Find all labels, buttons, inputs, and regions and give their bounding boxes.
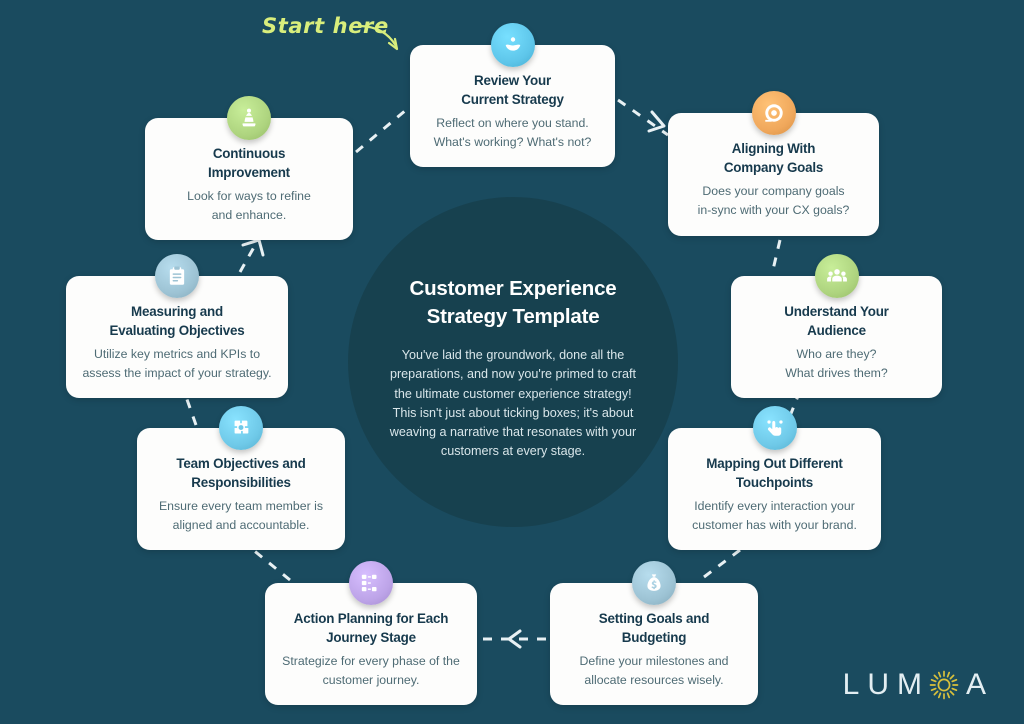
- step-title-line1: Continuous: [159, 144, 339, 163]
- step-title-line1: Team Objectives and: [151, 454, 331, 473]
- step-desc-line2: What's working? What's not?: [424, 133, 601, 152]
- center-title: Customer Experience Strategy Template: [383, 275, 643, 330]
- step-title: Understand YourAudience: [745, 302, 928, 341]
- step-desc-line2: and enhance.: [159, 206, 339, 225]
- connector-measuring-to-ci: [240, 240, 258, 272]
- step-title: Mapping Out DifferentTouchpoints: [682, 454, 867, 493]
- step-title-line2: Current Strategy: [424, 90, 601, 109]
- step-description: Reflect on where you stand.What's workin…: [424, 114, 601, 151]
- step-title: Aligning WithCompany Goals: [682, 139, 865, 178]
- step-title-line2: Audience: [745, 321, 928, 340]
- step-desc-line1: Identify every interaction your: [682, 497, 867, 516]
- connector-aligning-to-understand: [772, 240, 780, 274]
- people-group-icon: [815, 254, 859, 298]
- step-desc-line2: in-sync with your CX goals?: [682, 201, 865, 220]
- step-title-line1: Measuring and: [80, 302, 274, 321]
- step-description: Who are they?What drives them?: [745, 345, 928, 382]
- arrowhead-to-aligning: [649, 112, 664, 131]
- clipboard-checklist-icon: [155, 254, 199, 298]
- connector-mapping-to-setting: [700, 550, 740, 580]
- workflow-nodes-icon: [349, 561, 393, 605]
- arrowhead-to-continuous: [243, 240, 263, 255]
- step-title-line2: Budgeting: [564, 628, 744, 647]
- step-title-line1: Action Planning for Each: [279, 609, 463, 628]
- center-circle: Customer Experience Strategy Template Yo…: [348, 197, 678, 527]
- step-desc-line1: Does your company goals: [682, 182, 865, 201]
- step-desc-line1: Strategize for every phase of the: [279, 652, 463, 671]
- step-description: Strategize for every phase of thecustome…: [279, 652, 463, 689]
- step-description: Utilize key metrics and KPIs toassess th…: [80, 345, 274, 382]
- step-description: Does your company goalsin-sync with your…: [682, 182, 865, 219]
- step-title: Team Objectives andResponsibilities: [151, 454, 331, 493]
- step-title-line2: Company Goals: [682, 158, 865, 177]
- step-title: Review YourCurrent Strategy: [424, 71, 601, 110]
- step-description: Look for ways to refineand enhance.: [159, 187, 339, 224]
- logo-text-lum: LUM: [843, 668, 930, 702]
- lotus-meditation-icon: [491, 23, 535, 67]
- step-title: Action Planning for EachJourney Stage: [279, 609, 463, 648]
- step-description: Ensure every team member isaligned and a…: [151, 497, 331, 534]
- center-title-line1: Customer Experience: [383, 275, 643, 303]
- touch-tap-icon: [753, 406, 797, 450]
- step-title-line1: Mapping Out Different: [682, 454, 867, 473]
- step-title: Measuring andEvaluating Objectives: [80, 302, 274, 341]
- sun-burst-icon: [929, 670, 959, 700]
- step-title-line1: Review Your: [424, 71, 601, 90]
- money-bag-icon: [632, 561, 676, 605]
- logo-text-a: A: [966, 668, 994, 702]
- connector-action-to-team: [252, 549, 290, 580]
- step-description: Identify every interaction yourcustomer …: [682, 497, 867, 534]
- puzzle-share-icon: [219, 406, 263, 450]
- step-desc-line2: aligned and accountable.: [151, 516, 331, 535]
- target-dartboard-icon: [752, 91, 796, 135]
- arrowhead-to-action: [509, 631, 520, 647]
- step-desc-line1: Utilize key metrics and KPIs to: [80, 345, 274, 364]
- infographic-canvas: Customer Experience Strategy Template Yo…: [0, 0, 1024, 724]
- step-title: ContinuousImprovement: [159, 144, 339, 183]
- step-description: Define your milestones andallocate resou…: [564, 652, 744, 689]
- step-desc-line1: Reflect on where you stand.: [424, 114, 601, 133]
- step-title-line1: Aligning With: [682, 139, 865, 158]
- step-desc-line2: customer journey.: [279, 671, 463, 690]
- step-title-line2: Touchpoints: [682, 473, 867, 492]
- step-desc-line1: Define your milestones and: [564, 652, 744, 671]
- start-here-arrow-icon: [355, 14, 407, 58]
- step-desc-line1: Ensure every team member is: [151, 497, 331, 516]
- step-title: Setting Goals andBudgeting: [564, 609, 744, 648]
- center-body-text: You've laid the groundwork, done all the…: [387, 346, 639, 461]
- growth-plant-icon: [227, 96, 271, 140]
- step-desc-line2: assess the impact of your strategy.: [80, 364, 274, 383]
- step-desc-line2: allocate resources wisely.: [564, 671, 744, 690]
- connector-ci-to-review: [356, 110, 406, 152]
- step-desc-line1: Who are they?: [745, 345, 928, 364]
- lumoa-logo: LUM A: [843, 668, 994, 702]
- step-desc-line2: customer has with your brand.: [682, 516, 867, 535]
- step-title-line2: Evaluating Objectives: [80, 321, 274, 340]
- connector-review-to-aligning: [618, 100, 668, 135]
- step-title-line2: Responsibilities: [151, 473, 331, 492]
- step-title-line1: Understand Your: [745, 302, 928, 321]
- center-title-line2: Strategy Template: [383, 303, 643, 331]
- step-title-line1: Setting Goals and: [564, 609, 744, 628]
- step-desc-line1: Look for ways to refine: [159, 187, 339, 206]
- step-title-line2: Journey Stage: [279, 628, 463, 647]
- step-desc-line2: What drives them?: [745, 364, 928, 383]
- step-title-line2: Improvement: [159, 163, 339, 182]
